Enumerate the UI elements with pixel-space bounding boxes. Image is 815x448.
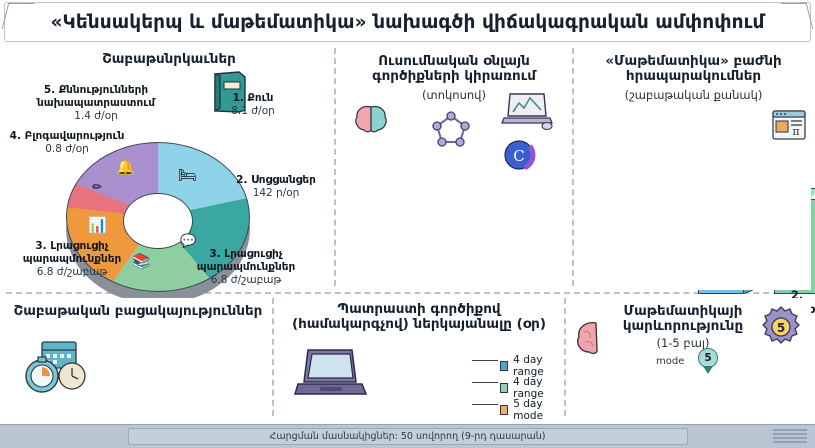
panel-online-tools: Ուսումնական օնլայն գործիքների կիրառում (… — [338, 48, 570, 290]
header-corner-left — [2, 3, 34, 29]
browser-pi-icon: π — [772, 110, 806, 140]
divider-vertical-4 — [564, 298, 566, 416]
pin-icon: 5 — [698, 348, 718, 368]
pie-leader-1 — [472, 360, 498, 361]
gear-badge-value: 5 — [777, 321, 785, 335]
page-title: «Կենսակերպ և մաթեմատիկա» նախագծի վիճակագ… — [50, 12, 764, 33]
mode-panel-title: Մաթեմատիկայի կարևորությունը — [598, 304, 768, 334]
pie-legend-label-1: 4 day range — [513, 354, 562, 378]
bars-panel-title: Ուսումնական օնլայն գործիքների կիրառում — [338, 54, 570, 84]
svg-text:π: π — [792, 125, 799, 138]
panel-math-importance: Մաթեմատիկայի կարևորությունը (1-5 բալ) 5 … — [568, 298, 811, 416]
header-corner-right — [781, 3, 813, 29]
brain-icon — [574, 320, 618, 356]
pie-legend-swatch-1 — [500, 361, 508, 371]
sbar-panel-title: Շաբաթական բացակայություններ — [6, 304, 270, 319]
svg-text:C: C — [513, 147, 524, 165]
chat-icon: 💬 — [180, 234, 196, 249]
sleep-icon: 🛏 — [178, 166, 197, 184]
pie-legend-item-2: 4 day range — [500, 376, 562, 400]
divider-vertical-2 — [572, 48, 574, 286]
pie-legend-label-3: 5 day mode — [513, 398, 562, 422]
panel-weekly-activities: Շաբաթսնրկաւներ 🛏 💬 📚 📊 ✏ 🔔 5. Քննություն… — [6, 48, 332, 290]
pie-legend-swatch-2 — [500, 383, 508, 393]
pie-leader-2 — [472, 382, 498, 383]
pie-legend-swatch-3 — [500, 405, 508, 415]
pie-legend-label-2: 4 day range — [513, 376, 562, 400]
panel-math-publications: «Մաթեմատիկա» բաժնի հրապարակումներ (շաբաթ… — [576, 48, 811, 290]
poster-footer: Հարցման մասնակիցներ: 50 սովորող (9-րդ դա… — [0, 424, 815, 448]
donut-label-3a: 3. Լրացուցիչ պարապմունքներ 6.8 ժ/շաբաթ — [10, 240, 134, 279]
donut-label-2: 2. Սոցցանցեր 142 ր/օր — [220, 174, 332, 200]
panel-presentation-days: Պատրաստի գործիքով (համակարգչով) ներկայան… — [276, 298, 562, 416]
pie-legend-item-3: 5 day mode — [500, 398, 562, 422]
infographic-poster: «Կենսակերպ և մաթեմատիկա» նախագծի վիճակագ… — [0, 0, 815, 448]
pencil-icon: ✏ — [92, 180, 102, 194]
books-icon: 📚 — [132, 252, 151, 270]
mode-text-label: mode — [656, 356, 684, 367]
laptop-chart-icon: 📊 — [88, 216, 107, 234]
footer-text: Հարցման մասնակիցներ: 50 սովորող (9-րդ դա… — [128, 428, 688, 445]
stopwatch-calendar-icon — [20, 338, 96, 394]
mode-panel-subtitle: (1-5 բալ) — [598, 336, 768, 350]
panel-weekly-absences: Շաբաթական բացակայություններ 4 3 — [6, 298, 270, 416]
pin-value: 5 — [704, 352, 711, 364]
laptop-icon — [294, 346, 370, 400]
laptop-chart-icon — [500, 90, 554, 130]
pie-legend-item-1: 4 day range — [500, 354, 562, 378]
geogebra-icon — [432, 112, 470, 148]
poster-header: «Կենսակերպ և մաթեմատիկա» նախագծի վիճակագ… — [4, 2, 811, 42]
pie-panel-title: Պատրաստի գործիքով (համակարգչով) ներկայան… — [276, 302, 562, 332]
divider-vertical-1 — [334, 48, 336, 286]
divider-vertical-3 — [272, 298, 274, 416]
donut-label-4: 4. Բլոգավարություն 0.8 ժ/օր — [6, 130, 128, 156]
brain-icon — [352, 104, 390, 134]
donut-label-1: 1. Քուն 8.1 ժ/օր — [198, 92, 308, 118]
canva-icon: C — [504, 140, 534, 170]
line-panel-subtitle: (շաբաթական քանակ) — [576, 88, 811, 102]
line-panel-title: «Մաթեմատիկա» բաժնի հրապարակումներ — [576, 54, 811, 84]
pie-leader-3 — [472, 404, 498, 405]
donut-label-5: 5. Քննությունների նախապատրաստում 1.4 ժ/օ… — [20, 84, 172, 123]
donut-label-3b: 3. Լրացուցիչ պարապմունքներ 6.8 ժ/շաբաթ — [182, 248, 310, 287]
footer-lines-icon — [773, 429, 807, 444]
bell-icon: 🔔 — [116, 158, 135, 176]
gear-badge-icon: 5 — [760, 306, 802, 348]
donut-panel-title: Շաբաթսնրկաւներ — [6, 52, 332, 67]
